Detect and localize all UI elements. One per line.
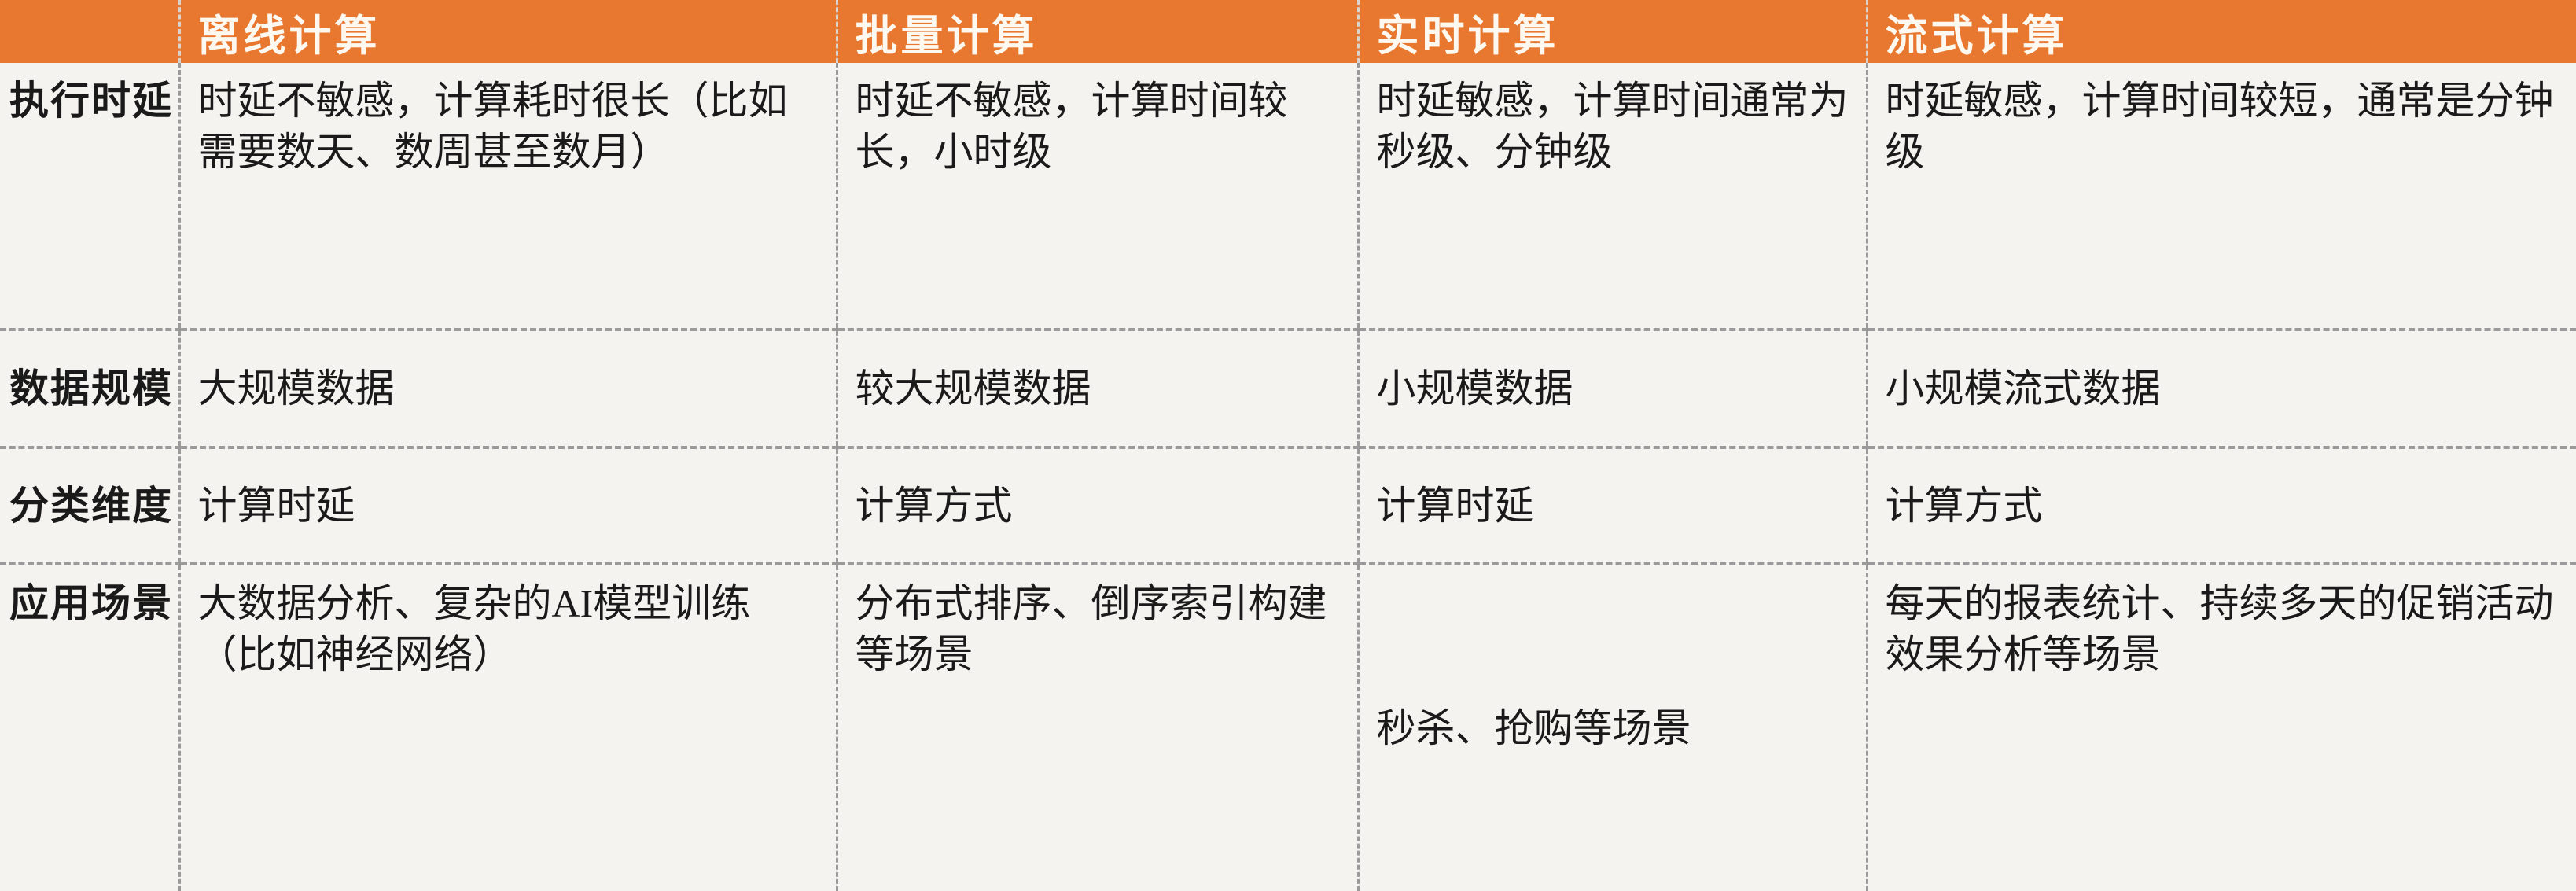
header-corner-cell	[0, 0, 179, 63]
table-row-application-scenario: 应用场景 大数据分析、复杂的AI模型训练（比如神经网络） 分布式排序、倒序索引构…	[0, 564, 2576, 891]
header-row: 离线计算 批量计算 实时计算 流式计算	[0, 0, 2576, 63]
table-row-data-scale: 数据规模 大规模数据 较大规模数据 小规模数据 小规模流式数据	[0, 330, 2576, 447]
column-header-batch: 批量计算	[837, 0, 1358, 63]
cell-data-scale-offline: 大规模数据	[179, 330, 837, 447]
cell-data-scale-realtime: 小规模数据	[1358, 330, 1867, 447]
table-row-execution-latency: 执行时延 时延不敏感，计算耗时很长（比如需要数天、数周甚至数月） 时延不敏感，计…	[0, 63, 2576, 330]
table-row-classification-dimension: 分类维度 计算时延 计算方式 计算时延 计算方式	[0, 447, 2576, 564]
table-header: 离线计算 批量计算 实时计算 流式计算	[0, 0, 2576, 63]
cell-application-scenario-streaming: 每天的报表统计、持续多天的促销活动效果分析等场景	[1867, 564, 2576, 891]
row-label-execution-latency: 执行时延	[0, 63, 179, 330]
table-body: 执行时延 时延不敏感，计算耗时很长（比如需要数天、数周甚至数月） 时延不敏感，计…	[0, 63, 2576, 891]
comparison-table: 离线计算 批量计算 实时计算 流式计算 执行时延 时延不敏感，计算耗时很长（比如…	[0, 0, 2576, 891]
row-label-classification-dimension: 分类维度	[0, 447, 179, 564]
column-header-streaming: 流式计算	[1867, 0, 2576, 63]
cell-classification-dimension-offline: 计算时延	[179, 447, 837, 564]
cell-execution-latency-streaming: 时延敏感，计算时间较短，通常是分钟级	[1867, 63, 2576, 330]
cell-classification-dimension-streaming: 计算方式	[1867, 447, 2576, 564]
cell-application-scenario-realtime: 秒杀、抢购等场景	[1358, 564, 1867, 891]
cell-data-scale-batch: 较大规模数据	[837, 330, 1358, 447]
cell-application-scenario-offline: 大数据分析、复杂的AI模型训练（比如神经网络）	[179, 564, 837, 891]
cell-execution-latency-offline: 时延不敏感，计算耗时很长（比如需要数天、数周甚至数月）	[179, 63, 837, 330]
cell-classification-dimension-realtime: 计算时延	[1358, 447, 1867, 564]
column-header-offline: 离线计算	[179, 0, 837, 63]
cell-execution-latency-realtime: 时延敏感，计算时间通常为秒级、分钟级	[1358, 63, 1867, 330]
column-header-realtime: 实时计算	[1358, 0, 1867, 63]
cell-data-scale-streaming: 小规模流式数据	[1867, 330, 2576, 447]
cell-execution-latency-batch: 时延不敏感，计算时间较长，小时级	[837, 63, 1358, 330]
row-label-data-scale: 数据规模	[0, 330, 179, 447]
cell-application-scenario-batch: 分布式排序、倒序索引构建等场景	[837, 564, 1358, 891]
cell-classification-dimension-batch: 计算方式	[837, 447, 1358, 564]
row-label-application-scenario: 应用场景	[0, 564, 179, 891]
